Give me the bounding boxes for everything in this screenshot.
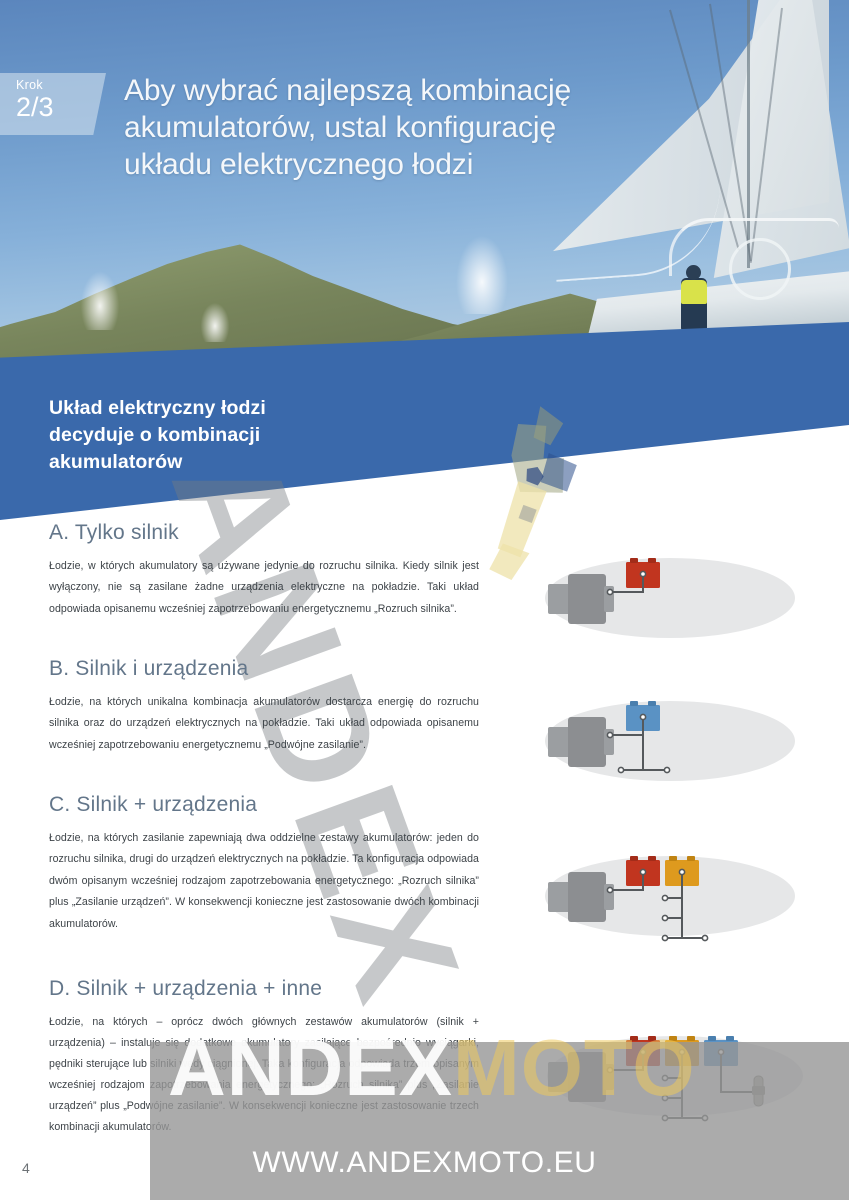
section-b-body: Łodzie, na których unikalna kombinacja a… — [49, 692, 479, 756]
wire-node — [607, 589, 612, 594]
section-c-body: Łodzie, na których zasilanie zapewniają … — [49, 828, 479, 935]
wire-node — [640, 571, 645, 576]
wire-node — [662, 895, 667, 900]
section-a-heading: A. Tylko silnik — [49, 521, 479, 545]
wire-node — [607, 1067, 612, 1072]
section-d-heading: D. Silnik + urządzenia + inne — [49, 977, 479, 1001]
wire-node — [607, 887, 612, 892]
banner-line-3: akumulatorów — [49, 449, 266, 476]
step-badge-label: Krok — [16, 78, 106, 92]
hero-photo — [0, 0, 849, 372]
section-a-body: Łodzie, w których akumulatory są używane… — [49, 556, 479, 620]
hero-title-line-1: Aby wybrać najlepszą kombinację — [124, 72, 571, 109]
wire-node — [662, 1075, 667, 1080]
hero-title: Aby wybrać najlepszą kombinację akumulat… — [124, 72, 571, 183]
wire-node — [607, 732, 612, 737]
engine-block — [568, 872, 606, 922]
battery-terminal-left — [630, 1036, 638, 1041]
footer-website-url[interactable]: WWW.ANDEXMOTO.EU — [0, 1146, 849, 1180]
water-spray-2 — [455, 234, 509, 314]
section-d-body: Łodzie, na których – oprócz dwóch główny… — [49, 1012, 479, 1138]
winch-body — [752, 1086, 765, 1095]
battery-terminal-right — [726, 1036, 734, 1041]
banner-line-2: decyduje o kombinacji — [49, 422, 266, 449]
water-spray-1 — [80, 270, 120, 330]
section-c: C. Silnik + urządzenia Łodzie, na któryc… — [49, 793, 479, 935]
wire-node — [702, 1115, 707, 1120]
battery-terminal-right — [648, 701, 656, 706]
wire-node — [640, 1049, 645, 1054]
battery-terminal-left — [630, 701, 638, 706]
battery-terminal-left — [630, 856, 638, 861]
battery-terminal-right — [687, 1036, 695, 1041]
wire-node — [640, 869, 645, 874]
wire-node — [662, 1095, 667, 1100]
diagram-d-three-battery-banks — [520, 1018, 849, 1153]
page-root: Krok 2/3 Aby wybrać najlepszą kombinację… — [0, 0, 849, 1200]
wire-node — [640, 714, 645, 719]
wire-node — [664, 767, 669, 772]
hero-title-line-2: akumulatorów, ustal konfigurację — [124, 109, 571, 146]
wire-node — [662, 1115, 667, 1120]
wire-node — [679, 1049, 684, 1054]
engine-block — [568, 717, 606, 767]
wire-node — [662, 935, 667, 940]
wire-node — [618, 767, 623, 772]
hero-title-line-3: układu elektrycznego łodzi — [124, 146, 571, 183]
sailor-head — [686, 265, 701, 280]
battery-terminal-right — [687, 856, 695, 861]
page-number: 4 — [22, 1160, 30, 1176]
sailboat-photo — [519, 0, 849, 372]
engine-shaft — [548, 727, 570, 757]
step-badge-value: 2/3 — [16, 92, 106, 122]
engine-shaft — [548, 584, 570, 614]
battery-terminal-left — [669, 856, 677, 861]
battery-terminal-left — [708, 1036, 716, 1041]
sailor-lifevest — [681, 280, 707, 304]
section-c-heading: C. Silnik + urządzenia — [49, 793, 479, 817]
section-b: B. Silnik i urządzenia Łodzie, na któryc… — [49, 657, 479, 756]
section-d: D. Silnik + urządzenia + inne Łodzie, na… — [49, 977, 479, 1138]
wire-node — [679, 869, 684, 874]
battery-terminal-left — [669, 1036, 677, 1041]
step-badge: Krok 2/3 — [0, 73, 106, 135]
section-b-heading: B. Silnik i urządzenia — [49, 657, 479, 681]
wire-node — [718, 1049, 723, 1054]
engine-shaft — [548, 1062, 570, 1092]
blue-band-text-wrap: Układ elektryczny łodzi decyduje o kombi… — [0, 322, 849, 520]
wire-node — [702, 935, 707, 940]
battery-terminal-right — [648, 1036, 656, 1041]
section-a: A. Tylko silnik Łodzie, w których akumul… — [49, 521, 479, 620]
banner-subtitle: Układ elektryczny łodzi decyduje o kombi… — [49, 395, 266, 476]
diagram-b-engine-and-devices — [520, 683, 840, 808]
wire-node — [662, 915, 667, 920]
engine-block — [568, 1052, 606, 1102]
engine-shaft — [548, 882, 570, 912]
battery-terminal-right — [648, 856, 656, 861]
battery-terminal-right — [648, 558, 656, 563]
banner-line-1: Układ elektryczny łodzi — [49, 395, 266, 422]
steering-wheel — [729, 238, 791, 300]
diagram-c-two-battery-banks — [520, 838, 840, 968]
battery-terminal-left — [630, 558, 638, 563]
engine-block — [568, 574, 606, 624]
diagram-a-engine-only — [520, 542, 840, 662]
